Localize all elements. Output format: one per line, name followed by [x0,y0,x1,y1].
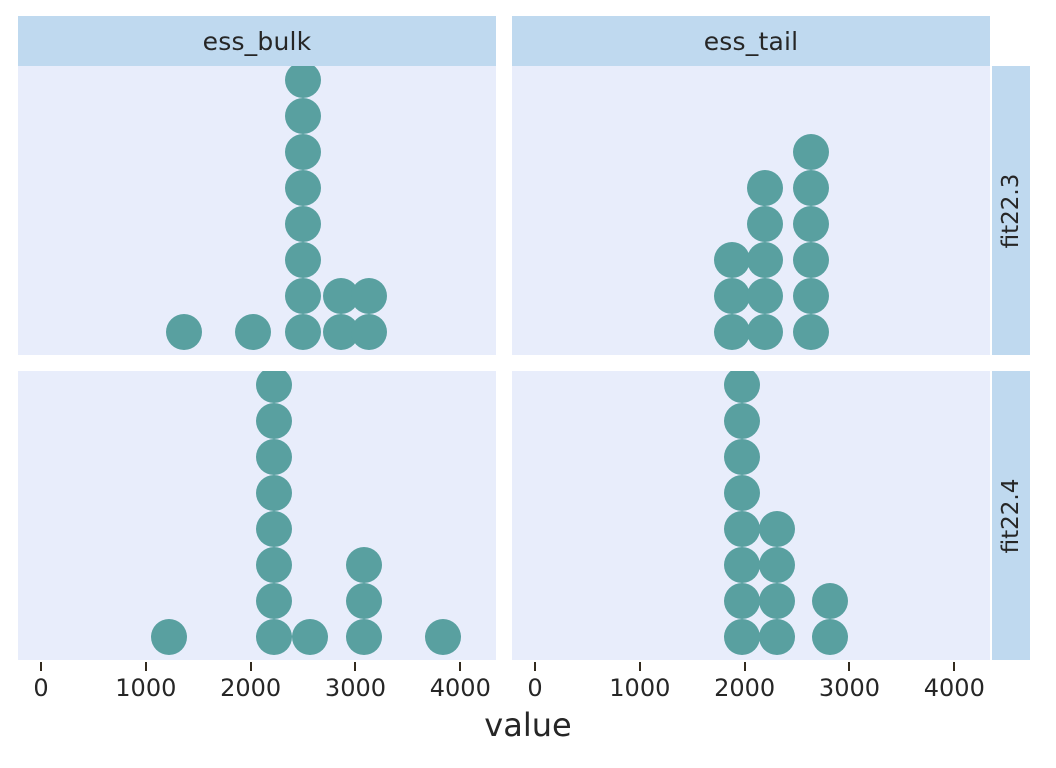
x-axis-tick [459,662,461,671]
facet-grid-figure: ess_bulk ess_tail fit22.3 fit22.4 010002… [0,0,1056,768]
data-dot [346,619,382,655]
column-strip-ess-tail: ess_tail [512,16,990,66]
data-dot [285,314,321,350]
data-dot [166,314,202,350]
data-dot [724,619,760,655]
data-dot [747,314,783,350]
row-strip-fit22-4: fit22.4 [992,371,1030,660]
x-axis-tick-label: 1000 [609,674,670,702]
data-dot [793,134,829,170]
data-dot [812,619,848,655]
x-axis-tick-label: 3000 [325,674,386,702]
data-dot [256,439,292,475]
data-dot [724,583,760,619]
column-strip-label: ess_bulk [203,27,312,56]
data-dot [793,206,829,242]
data-dot [714,242,750,278]
data-dot [759,619,795,655]
x-axis-tick-label: 2000 [714,674,775,702]
data-dot [793,242,829,278]
data-dot [759,547,795,583]
data-dot [724,371,760,403]
column-strip-ess-bulk: ess_bulk [18,16,496,66]
data-dot [812,583,848,619]
x-axis-tick [250,662,252,671]
data-dot [714,278,750,314]
x-axis-tick-label: 4000 [430,674,491,702]
data-dot [285,242,321,278]
data-dot [759,511,795,547]
x-axis-tick [639,662,641,671]
data-dot [346,583,382,619]
data-dot [256,583,292,619]
data-dot [747,242,783,278]
data-dot [285,66,321,98]
column-strip-label: ess_tail [704,27,799,56]
x-axis-tick [744,662,746,671]
data-dot [235,314,271,350]
data-dot [724,439,760,475]
data-dot [793,278,829,314]
data-dot [292,619,328,655]
x-axis-tick-label: 0 [527,674,542,702]
data-dot [351,314,387,350]
data-dot [793,314,829,350]
data-dot [256,547,292,583]
data-dot [793,170,829,206]
data-dot [425,619,461,655]
data-dot [151,619,187,655]
data-dot [747,170,783,206]
panel-fit22-3-ess-bulk [18,66,496,355]
data-dot [285,278,321,314]
x-axis-tick-label: 3000 [819,674,880,702]
data-dot [724,403,760,439]
x-axis-tick [40,662,42,671]
data-dot [256,511,292,547]
data-dot [256,403,292,439]
x-axis-tick-label: 4000 [924,674,985,702]
data-dot [724,475,760,511]
x-axis-tick [534,662,536,671]
data-dot [759,583,795,619]
facet-grid: ess_bulk ess_tail fit22.3 fit22.4 [18,16,1038,662]
row-strip-fit22-3: fit22.3 [992,66,1030,355]
data-dot [285,206,321,242]
row-strip-label: fit22.4 [998,478,1024,553]
data-dot [256,619,292,655]
panel-fit22-3-ess-tail [512,66,990,355]
data-dot [346,547,382,583]
data-dot [285,170,321,206]
data-dot [285,134,321,170]
data-dot [747,206,783,242]
data-dot [351,278,387,314]
panel-fit22-4-ess-bulk [18,371,496,660]
data-dot [724,511,760,547]
x-axis-tick-label: 1000 [115,674,176,702]
x-axis-title: value [0,706,1056,744]
data-dot [714,314,750,350]
data-dot [285,98,321,134]
row-strip-label: fit22.3 [998,173,1024,248]
data-dot [747,278,783,314]
x-axis-tick [848,662,850,671]
x-axis-tick-label: 0 [33,674,48,702]
data-dot [256,475,292,511]
x-axis-tick [354,662,356,671]
x-axis-tick [145,662,147,671]
x-axis-tick [953,662,955,671]
data-dot [724,547,760,583]
panel-fit22-4-ess-tail [512,371,990,660]
x-axis-tick-label: 2000 [220,674,281,702]
data-dot [256,371,292,403]
